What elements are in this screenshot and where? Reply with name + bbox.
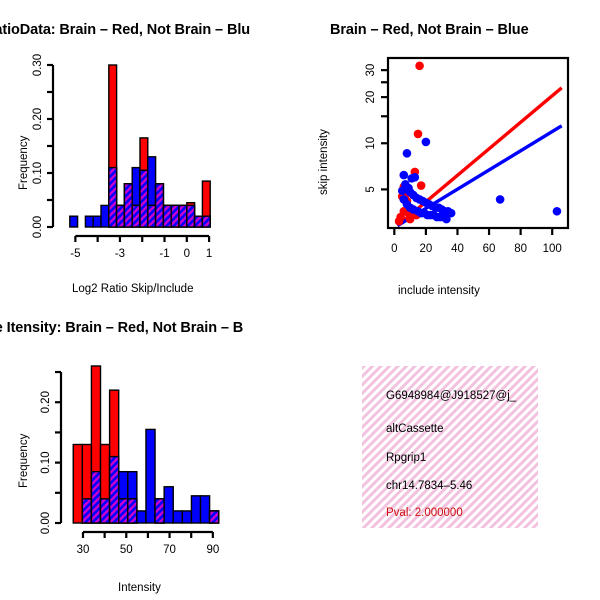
x-axis-tick-label: 80 (514, 243, 527, 255)
histogram-bar-overlap (210, 511, 219, 523)
x-axis-tick-label: 20 (419, 243, 432, 255)
histogram-bar-overlap (128, 499, 137, 523)
scatter-point-brain (395, 217, 404, 226)
scatter-point-not-brain (398, 186, 407, 195)
intensity-histogram-plot: 0.000.100.2030507090 (0, 348, 280, 598)
info-line-id: G6948984@J918527@j_ (386, 390, 516, 402)
scatter-point-brain (415, 62, 424, 71)
histogram-bar-not-brain (101, 205, 109, 227)
x-axis-tick-label: 100 (543, 243, 562, 255)
x-axis-tick-label: -1 (159, 248, 169, 260)
histogram-bar-overlap (82, 499, 91, 523)
x-axis-tick-label: 0 (391, 243, 397, 255)
histogram-bar-overlap (119, 499, 128, 523)
histogram-bar-overlap (110, 457, 119, 523)
histogram-bar-brain (73, 445, 82, 524)
x-axis-tick-label: -3 (115, 248, 125, 260)
histogram-bar-overlap (187, 205, 195, 227)
info-line-gene: Rpgrip1 (386, 452, 426, 464)
y-axis-tick-label: 10 (365, 137, 377, 150)
histogram-bar-overlap (140, 170, 148, 227)
y-axis-tick-label: 0.20 (32, 108, 44, 130)
y-axis-tick-label: 30 (365, 64, 377, 77)
scatter-point-brain (406, 215, 415, 224)
ratio-histogram-plot: 0.000.100.200.30-5-3-101 (0, 55, 280, 305)
histogram-bar-not-brain (85, 216, 93, 227)
y-axis-tick-label: 0.30 (32, 54, 44, 76)
x-axis-tick-label: 70 (163, 544, 176, 556)
histogram-bar-not-brain (137, 511, 146, 523)
scatter-point-not-brain (553, 207, 562, 216)
info-line-coordinates: chr14.7834–5.46 (386, 480, 472, 492)
histogram-bar-overlap (171, 205, 179, 227)
histogram-bar-overlap (101, 499, 110, 523)
histogram-bar-overlap (109, 168, 117, 227)
plot-frame (388, 58, 568, 228)
info-line-event-type: altCassette (386, 423, 444, 435)
y-axis-tick-label: 20 (365, 91, 377, 104)
histogram-bar-overlap (156, 184, 164, 227)
ratio-histogram-title: RatioData: Brain – Red, Not Brain – Blu (0, 22, 250, 38)
panel-scatter: Brain – Red, Not Brain – Blue skip inten… (300, 0, 600, 310)
scatter-plot: 5102030020406080100 (300, 50, 600, 300)
histogram-bar-not-brain (173, 511, 182, 523)
scatter-point-not-brain (411, 173, 420, 182)
x-axis-tick-label: -5 (70, 248, 80, 260)
scatter-point-not-brain (403, 149, 412, 158)
scatter-point-not-brain (496, 195, 505, 204)
scatter-point-not-brain (442, 215, 451, 224)
scatter-point-not-brain (399, 171, 408, 180)
scatter-point-not-brain (422, 138, 431, 147)
x-axis-tick-label: 40 (451, 243, 464, 255)
panel-ratio-histogram: RatioData: Brain – Red, Not Brain – Blu … (0, 0, 280, 310)
y-axis-tick-label: 0.20 (40, 391, 52, 413)
y-axis-tick-label: 0.00 (40, 512, 52, 534)
histogram-bar-overlap (202, 216, 210, 227)
histogram-bar-not-brain (146, 429, 155, 523)
histogram-bar-overlap (124, 184, 132, 227)
histogram-bar-not-brain (70, 216, 78, 227)
histogram-bar-overlap (117, 205, 125, 227)
x-axis-tick-label: 50 (120, 544, 133, 556)
x-axis-tick-label: 1 (206, 248, 212, 260)
histogram-bar-not-brain (93, 216, 101, 227)
info-box: G6948984@J918527@j_ altCassette Rpgrip1 … (362, 366, 538, 528)
histogram-bar-overlap (132, 205, 140, 227)
histogram-bar-not-brain (191, 496, 200, 523)
y-axis-tick-label: 5 (365, 186, 377, 192)
scatter-title: Brain – Red, Not Brain – Blue (330, 22, 529, 38)
histogram-bar-overlap (155, 499, 164, 523)
histogram-bar-overlap (195, 216, 203, 227)
histogram-bar-not-brain (182, 511, 191, 523)
intensity-histogram-title: ne Itensity: Brain – Red, Not Brain – B (0, 320, 243, 336)
info-line-pval: Pval: 2.000000 (386, 507, 463, 519)
histogram-bar-overlap (163, 205, 171, 227)
panel-intensity-histogram: ne Itensity: Brain – Red, Not Brain – B … (0, 300, 280, 600)
scatter-point-brain (417, 181, 426, 190)
y-axis-tick-label: 0.00 (32, 216, 44, 238)
histogram-bar-not-brain (164, 487, 173, 523)
y-axis-tick-label: 0.10 (32, 162, 44, 184)
x-axis-tick-label: 90 (206, 544, 219, 556)
x-axis-tick-label: 60 (483, 243, 496, 255)
x-axis-tick-label: 30 (77, 544, 90, 556)
histogram-bar-overlap (91, 472, 100, 523)
y-axis-tick-label: 0.10 (40, 451, 52, 473)
histogram-bar-overlap (148, 205, 156, 227)
x-axis-tick-label: 0 (184, 248, 190, 260)
histogram-bar-not-brain (201, 496, 210, 523)
scatter-point-brain (414, 130, 423, 139)
histogram-bar-overlap (179, 205, 187, 227)
